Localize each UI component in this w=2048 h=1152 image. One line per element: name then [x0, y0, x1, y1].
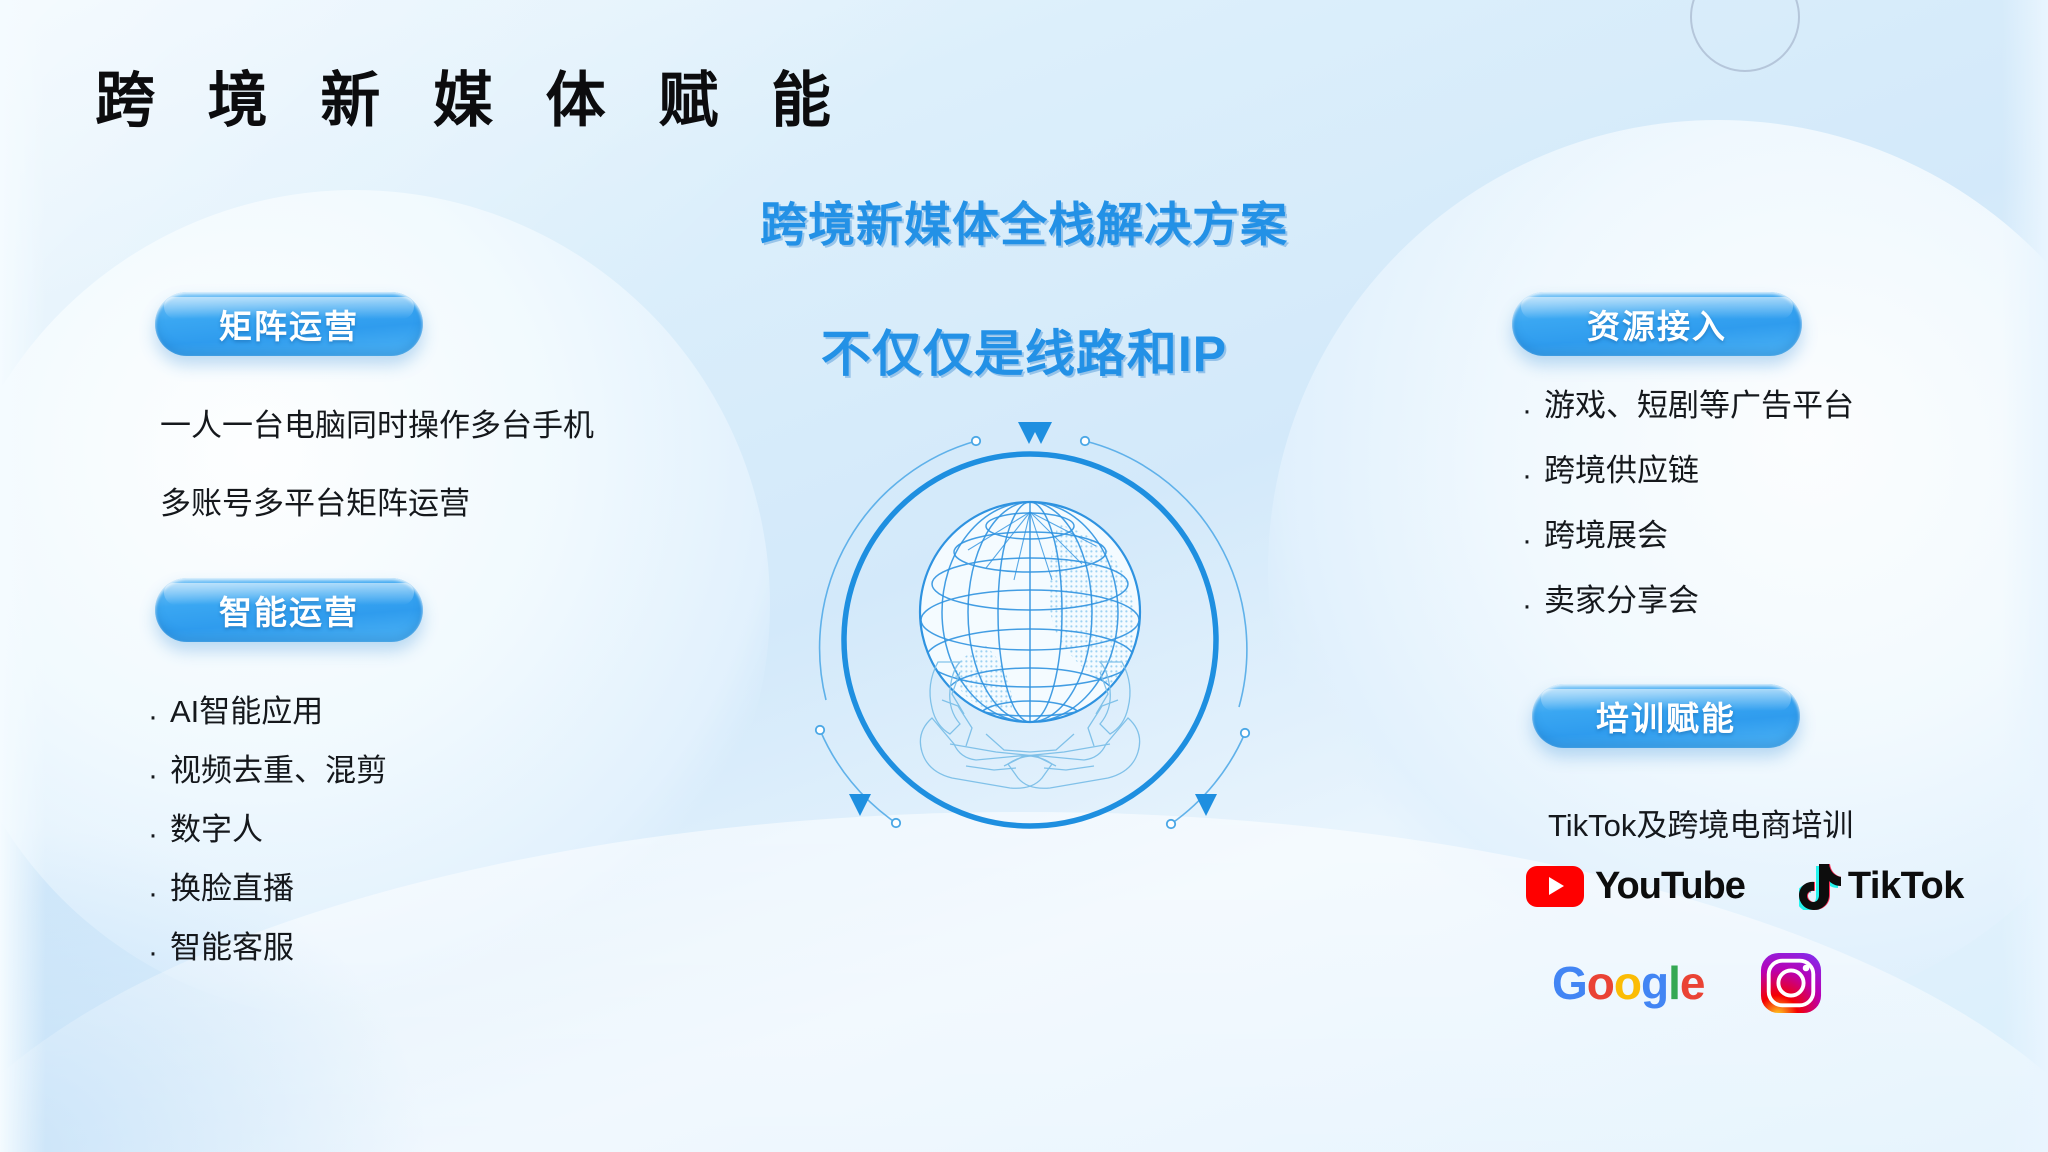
youtube-logo[interactable]: YouTube — [1526, 865, 1745, 908]
pill-training-empowerment[interactable]: 培训赋能 — [1532, 684, 1800, 748]
logo-row-bottom: Google — [1552, 952, 1940, 1014]
bullet-dot-icon: · — [1522, 591, 1532, 621]
bullet-dot-icon: · — [148, 938, 158, 968]
tiktok-logo[interactable]: TikTok — [1799, 862, 1964, 910]
center-heading-line2: 不仅仅是线路和IP — [821, 314, 1227, 386]
background-edge-right — [2002, 0, 2048, 1152]
bullet-label: 游戏、短剧等广告平台 — [1544, 390, 1854, 421]
background-edge-left — [0, 0, 46, 1152]
slide-canvas: 跨 境 新 媒 体 赋 能 跨境新媒体全栈解决方案 不仅仅是线路和IP — [0, 0, 2048, 1152]
bullet-dot-icon: · — [148, 879, 158, 909]
page-title: 跨 境 新 媒 体 赋 能 — [95, 52, 849, 139]
bullet-label: 换脸直播 — [170, 873, 294, 904]
pill-resource-access[interactable]: 资源接入 — [1512, 292, 1802, 356]
bullet-item: ·游戏、短剧等广告平台 — [1522, 390, 1854, 421]
center-heading-line1: 跨境新媒体全栈解决方案 — [760, 186, 1288, 255]
decorative-ring-outline — [1690, 0, 1800, 72]
pill-label: 智能运营 — [219, 586, 359, 634]
instagram-logo[interactable] — [1760, 952, 1822, 1014]
bullet-item: ·视频去重、混剪 — [148, 755, 387, 786]
google-letter: o — [1587, 960, 1614, 1006]
youtube-play-icon — [1526, 866, 1584, 907]
bullet-dot-icon: · — [148, 761, 158, 791]
left-text-line-2: 多账号多平台矩阵运营 — [160, 478, 470, 523]
youtube-wordmark: YouTube — [1595, 865, 1745, 908]
bullet-item: ·跨境展会 — [1522, 520, 1854, 551]
pill-smart-operations[interactable]: 智能运营 — [155, 578, 423, 642]
google-letter: e — [1680, 960, 1705, 1006]
right-bullet-list: ·游戏、短剧等广告平台·跨境供应链·跨境展会·卖家分享会 — [1522, 390, 1854, 650]
left-text-line-1: 一人一台电脑同时操作多台手机 — [160, 400, 594, 445]
pill-label: 矩阵运营 — [219, 300, 359, 348]
bullet-dot-icon: · — [148, 702, 158, 732]
bullet-item: ·智能客服 — [148, 932, 387, 963]
logo-row-top: YouTube TikTok — [1526, 862, 1940, 910]
bullet-item: ·卖家分享会 — [1522, 585, 1854, 616]
training-subtitle: TikTok及跨境电商培训 — [1548, 800, 1853, 845]
google-letter: l — [1668, 960, 1680, 1006]
bullet-label: 智能客服 — [170, 932, 294, 963]
wireframe-globe — [897, 479, 1164, 746]
bullet-label: AI智能应用 — [170, 696, 323, 727]
google-letter: G — [1552, 960, 1587, 1006]
tiktok-note-icon — [1799, 862, 1841, 910]
brand-logo-group: YouTube TikTok Google — [1500, 862, 1940, 1014]
pill-matrix-operations[interactable]: 矩阵运营 — [155, 292, 423, 356]
google-logo[interactable]: Google — [1552, 960, 1704, 1006]
bullet-dot-icon: · — [1522, 526, 1532, 556]
bullet-label: 跨境展会 — [1544, 520, 1668, 551]
bullet-item: ·换脸直播 — [148, 873, 387, 904]
bullet-label: 卖家分享会 — [1544, 585, 1699, 616]
pill-label: 培训赋能 — [1596, 692, 1736, 740]
bullet-dot-icon: · — [148, 820, 158, 850]
tiktok-wordmark: TikTok — [1848, 865, 1964, 908]
bullet-item: ·数字人 — [148, 814, 387, 845]
bullet-label: 跨境供应链 — [1544, 455, 1699, 486]
bullet-item: ·跨境供应链 — [1522, 455, 1854, 486]
google-letter: g — [1641, 960, 1668, 1006]
bullet-dot-icon: · — [1522, 461, 1532, 491]
left-bullet-list: ·AI智能应用·视频去重、混剪·数字人·换脸直播·智能客服 — [148, 696, 387, 991]
bullet-item: ·AI智能应用 — [148, 696, 387, 727]
bullet-dot-icon: · — [1522, 396, 1532, 426]
bullet-label: 视频去重、混剪 — [170, 755, 387, 786]
google-letter: o — [1614, 960, 1641, 1006]
globe-svg — [790, 400, 1270, 880]
globe-in-hands-illustration — [790, 400, 1270, 880]
pill-label: 资源接入 — [1587, 300, 1727, 348]
bullet-label: 数字人 — [170, 814, 263, 845]
